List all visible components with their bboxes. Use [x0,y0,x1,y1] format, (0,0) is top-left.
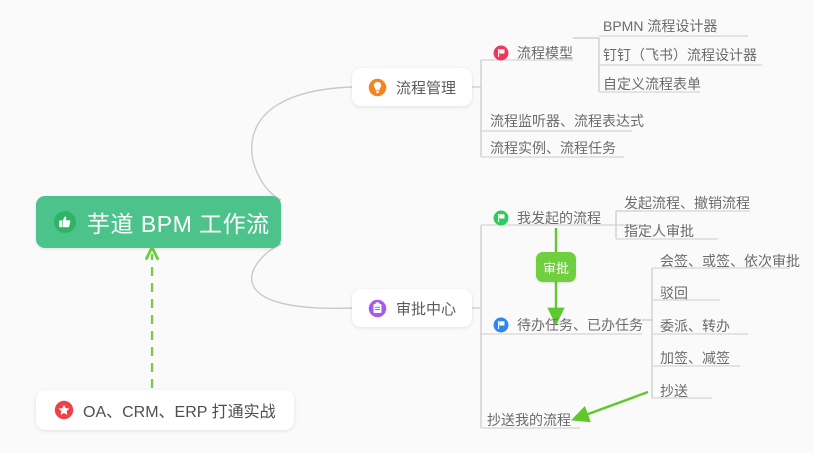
node-process-model[interactable]: 流程模型 [493,39,573,67]
node-bpmn-designer[interactable]: BPMN 流程设计器 [603,12,717,40]
star-icon [54,400,74,420]
node-process-instance[interactable]: 流程实例、流程任务 [490,134,616,162]
node-my-initiated-process[interactable]: 我发起的流程 [493,204,601,232]
node-countersign[interactable]: 会签、或签、依次审批 [660,247,800,275]
node-custom-form-label: 自定义流程表单 [603,77,701,91]
lightbulb-icon [368,78,387,97]
node-add-remove-sign[interactable]: 加签、减签 [660,344,730,372]
node-approval-center-label: 审批中心 [396,298,456,319]
node-reject-label: 驳回 [660,286,688,300]
node-bpmn-designer-label: BPMN 流程设计器 [603,19,717,33]
node-cc-label: 抄送 [660,384,688,398]
node-add-remove-sign-label: 加签、减签 [660,351,730,365]
node-cc-my-process-label: 抄送我的流程 [487,413,571,427]
node-process-instance-label: 流程实例、流程任务 [490,141,616,155]
node-oa-crm-erp-label: OA、CRM、ERP 打通实战 [83,398,276,422]
node-process-model-label: 流程模型 [517,46,573,60]
node-todo-done-tasks[interactable]: 待办任务、已办任务 [493,311,643,339]
thumbs-up-icon [53,210,77,234]
node-delegate-transfer-label: 委派、转办 [660,319,730,333]
node-process-listener-label: 流程监听器、流程表达式 [490,114,644,128]
node-cc-my-process[interactable]: 抄送我的流程 [487,406,571,434]
node-reject[interactable]: 驳回 [660,279,688,307]
arrow-cc-to-cc-my-process [580,392,648,417]
flag-red-icon [493,45,509,61]
connector-root-to-approval-center [252,244,352,308]
node-custom-form[interactable]: 自定义流程表单 [603,70,701,98]
root-node[interactable]: 芋道 BPM 工作流 [36,196,281,248]
node-start-revoke-process-label: 发起流程、撤销流程 [624,196,750,210]
node-delegate-transfer[interactable]: 委派、转办 [660,312,730,340]
root-label: 芋道 BPM 工作流 [87,205,270,239]
node-cc[interactable]: 抄送 [660,377,688,405]
flag-blue-icon [493,317,509,333]
approval-badge-label: 审批 [543,258,569,277]
flag-green-icon [493,210,509,226]
node-dingtalk-designer-label: 钉钉（飞书）流程设计器 [603,48,757,62]
node-start-revoke-process[interactable]: 发起流程、撤销流程 [624,189,750,217]
node-oa-crm-erp[interactable]: OA、CRM、ERP 打通实战 [36,390,294,430]
node-countersign-label: 会签、或签、依次审批 [660,254,800,268]
node-process-management[interactable]: 流程管理 [352,68,472,106]
node-process-listener[interactable]: 流程监听器、流程表达式 [490,107,644,135]
clipboard-icon [368,299,387,318]
node-approval-center[interactable]: 审批中心 [352,289,472,327]
node-assigned-approver-label: 指定人审批 [624,224,694,238]
node-assigned-approver[interactable]: 指定人审批 [624,217,694,245]
mindmap-canvas: 芋道 BPM 工作流 流程管理 流程模型 BPMN 流程设计器 钉钉（飞书）流 [0,0,814,453]
node-dingtalk-designer[interactable]: 钉钉（飞书）流程设计器 [603,41,757,69]
node-process-management-label: 流程管理 [396,77,456,98]
connector-root-to-process-mgmt [252,87,352,200]
node-todo-done-tasks-label: 待办任务、已办任务 [517,318,643,332]
approval-badge[interactable]: 审批 [536,252,576,282]
node-my-initiated-process-label: 我发起的流程 [517,211,601,225]
